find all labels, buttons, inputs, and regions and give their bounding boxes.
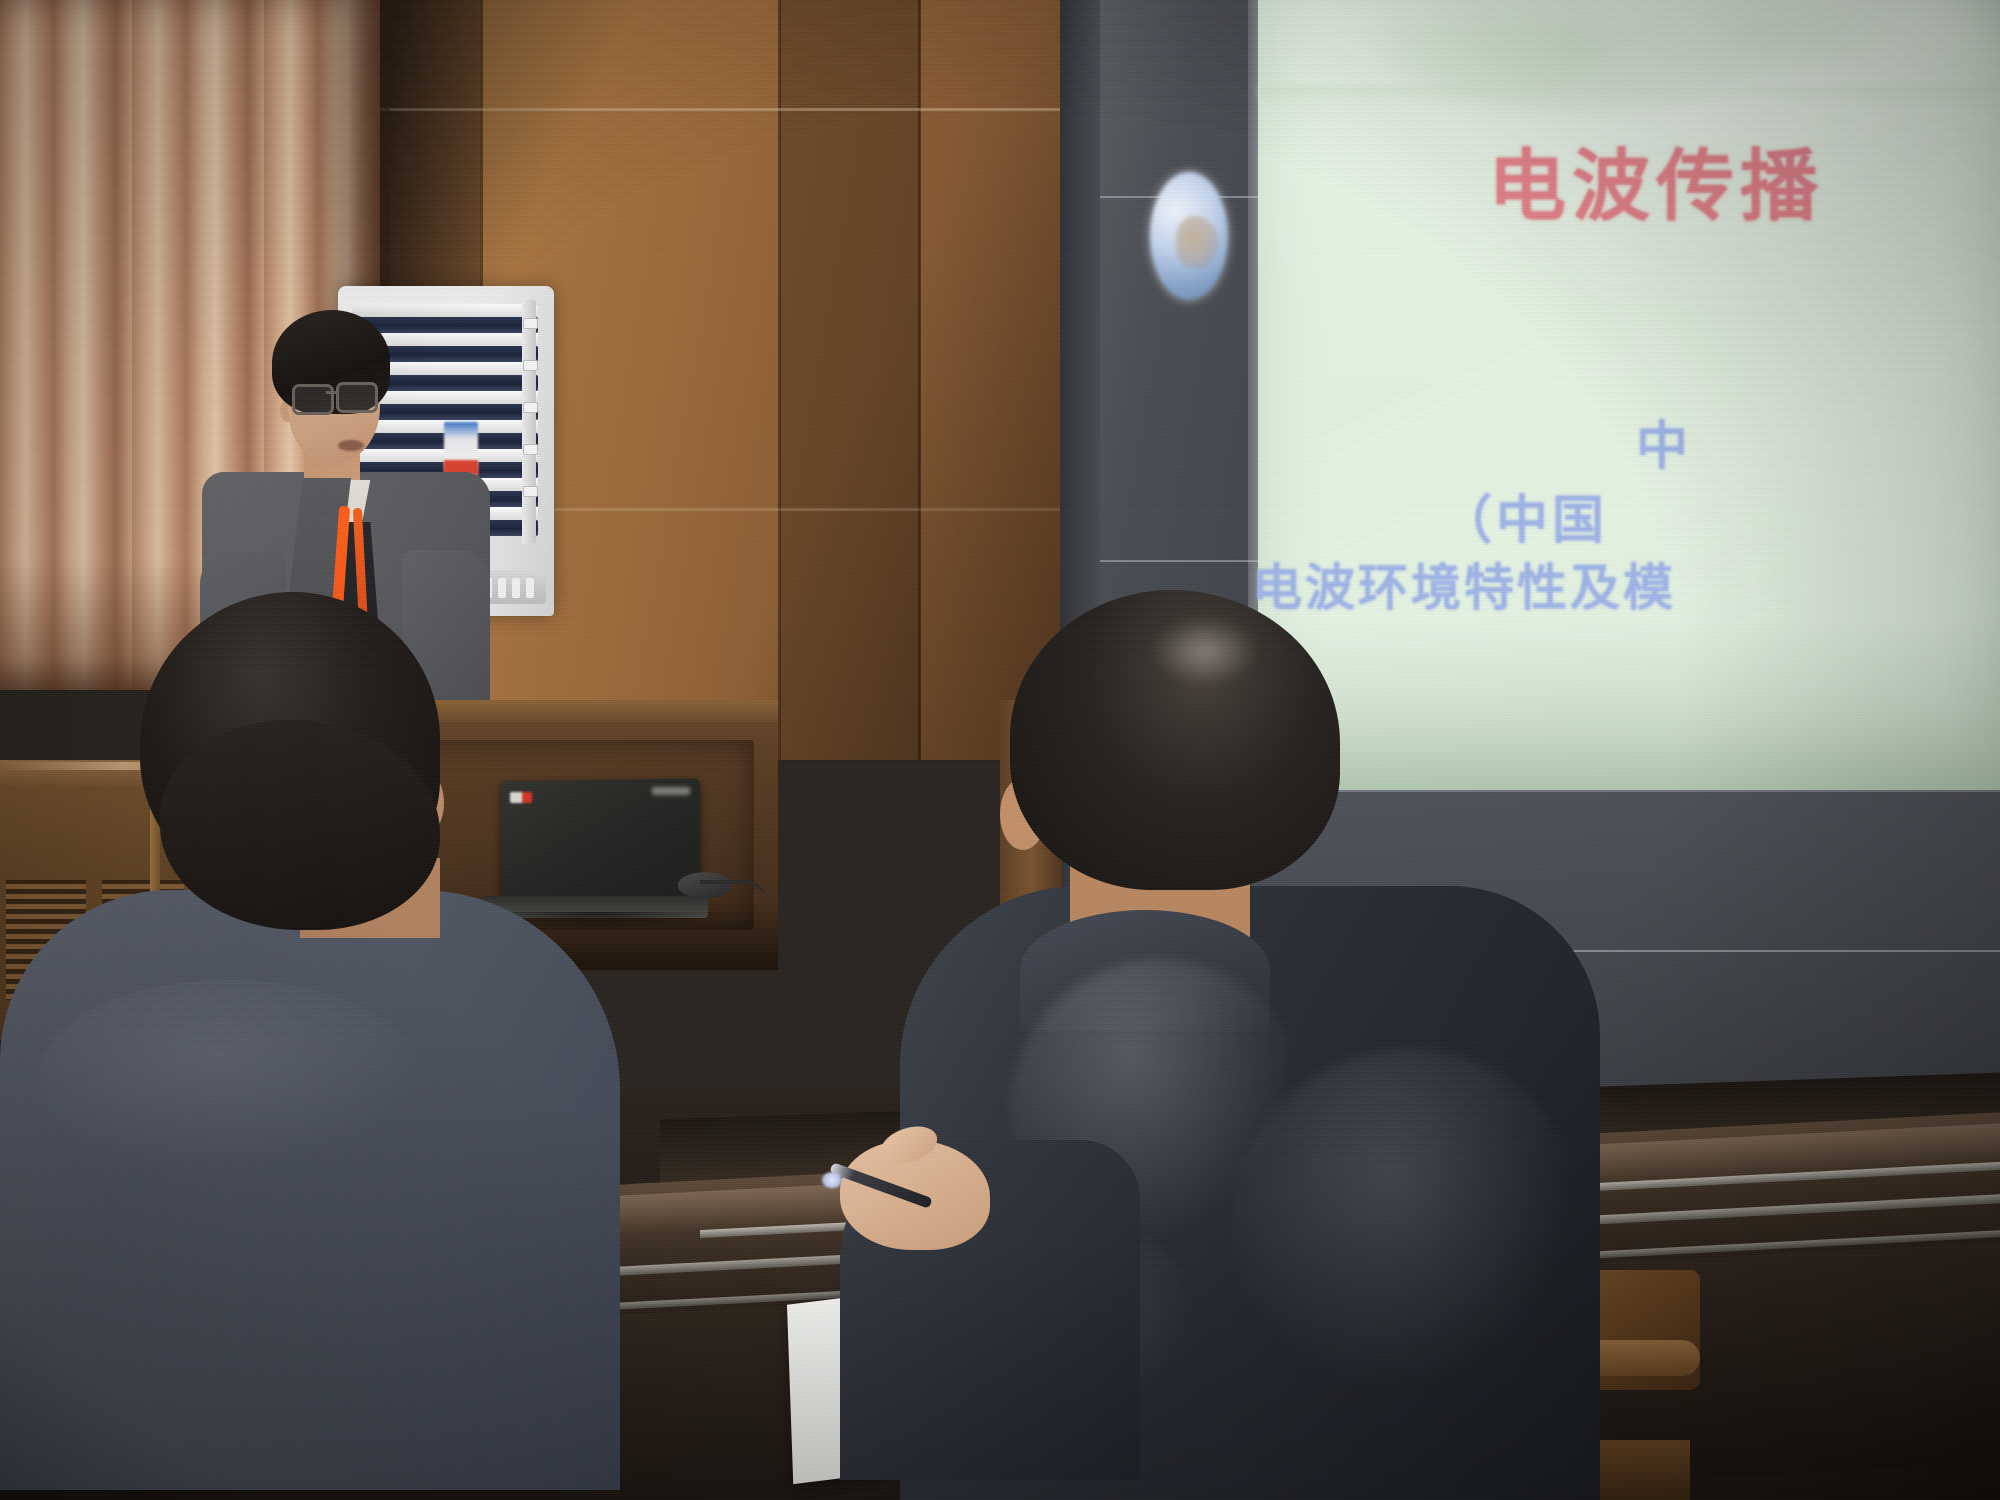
grille-clip bbox=[523, 318, 538, 329]
grille-clip bbox=[523, 360, 538, 371]
grille-clip bbox=[523, 486, 538, 497]
glasses-lens-left bbox=[292, 384, 334, 415]
grille-clip bbox=[523, 402, 538, 413]
attendee-left-highlight bbox=[40, 980, 420, 1170]
attendee-left-jacket bbox=[0, 890, 620, 1490]
presenter-mouth bbox=[338, 440, 364, 451]
attendee-right-foreground bbox=[900, 580, 1680, 1500]
air-conditioner-side-rail bbox=[522, 300, 536, 544]
globe-landmass bbox=[1176, 216, 1218, 268]
attendee-right-hair-highlight bbox=[1150, 616, 1260, 686]
conference-room-photo: 电波传播 中 （中国 电波环境特性及模 bbox=[0, 0, 2000, 1500]
leather-jacket-highlight bbox=[1230, 1050, 1590, 1410]
glasses-lens-right bbox=[336, 382, 378, 413]
slide-subtitle-line-1: 中 bbox=[1636, 404, 1692, 479]
slide-subtitle-line-2: （中国 bbox=[1440, 478, 1608, 553]
slide-title: 电波传播 bbox=[1488, 124, 1824, 236]
laptop-brand-text bbox=[652, 787, 690, 795]
pen-tip bbox=[822, 1172, 842, 1188]
globe-graphic bbox=[1150, 172, 1228, 300]
pillar-seam bbox=[1100, 560, 1262, 562]
grille-clip bbox=[523, 444, 538, 455]
glasses-bridge bbox=[326, 391, 339, 394]
attendee-left-foreground bbox=[0, 580, 640, 1500]
